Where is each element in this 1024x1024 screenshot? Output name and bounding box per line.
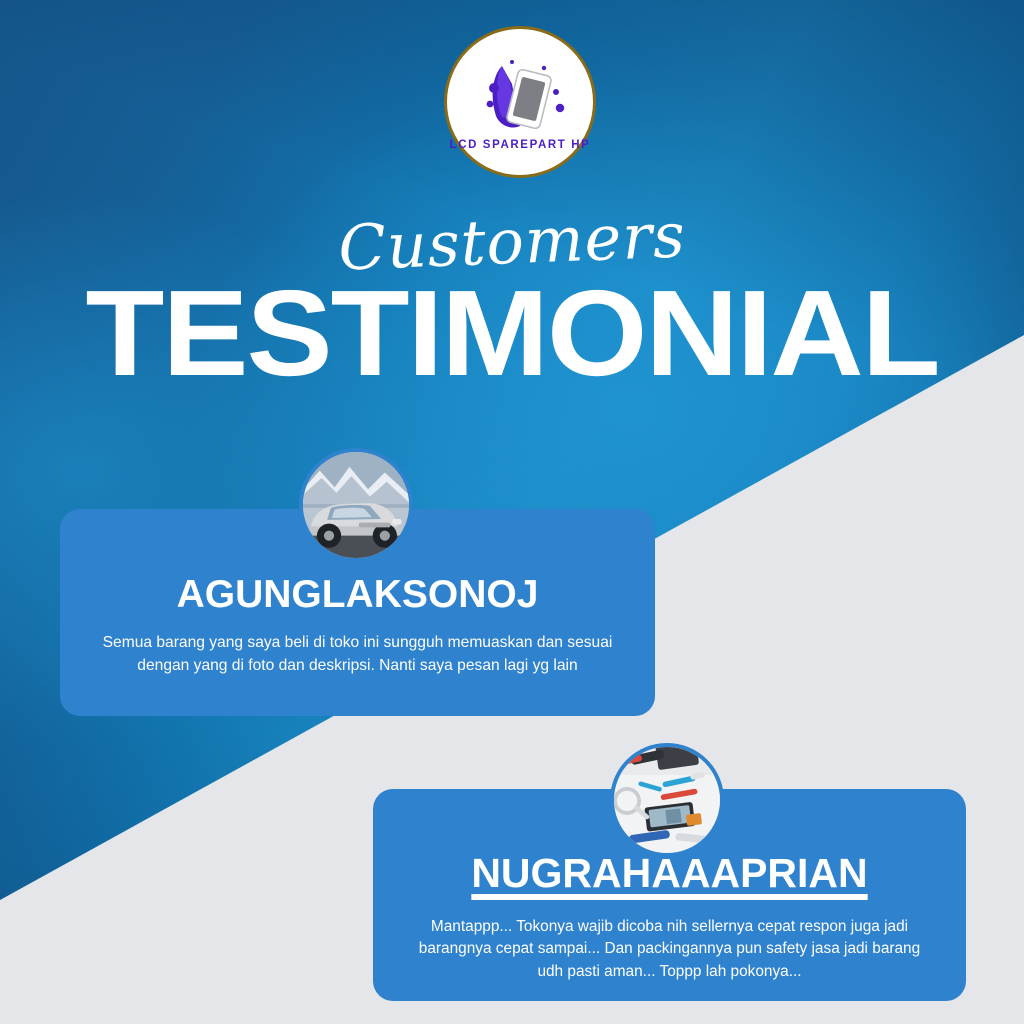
repair-tools-photo: [610, 743, 724, 857]
testimonial-name: NUGRAHAAAPRIAN: [373, 853, 966, 894]
testimonial-poster: LCD SPAREPART HP Customers TESTIMONIAL A…: [0, 0, 1024, 1024]
brand-logo: LCD SPAREPART HP: [444, 26, 596, 178]
testimonial-text: Mantappp... Tokonya wajib dicoba nih sel…: [373, 916, 966, 983]
smartphone-lcd-icon: [472, 58, 568, 138]
testimonial-text: Semua barang yang saya beli di toko ini …: [60, 632, 655, 677]
brand-logo-text: LCD SPAREPART HP: [450, 139, 591, 151]
suv-car-photo: [299, 448, 413, 562]
page-title: TESTIMONIAL: [0, 272, 1024, 394]
testimonial-name: AGUNGLAKSONOJ: [60, 575, 655, 614]
